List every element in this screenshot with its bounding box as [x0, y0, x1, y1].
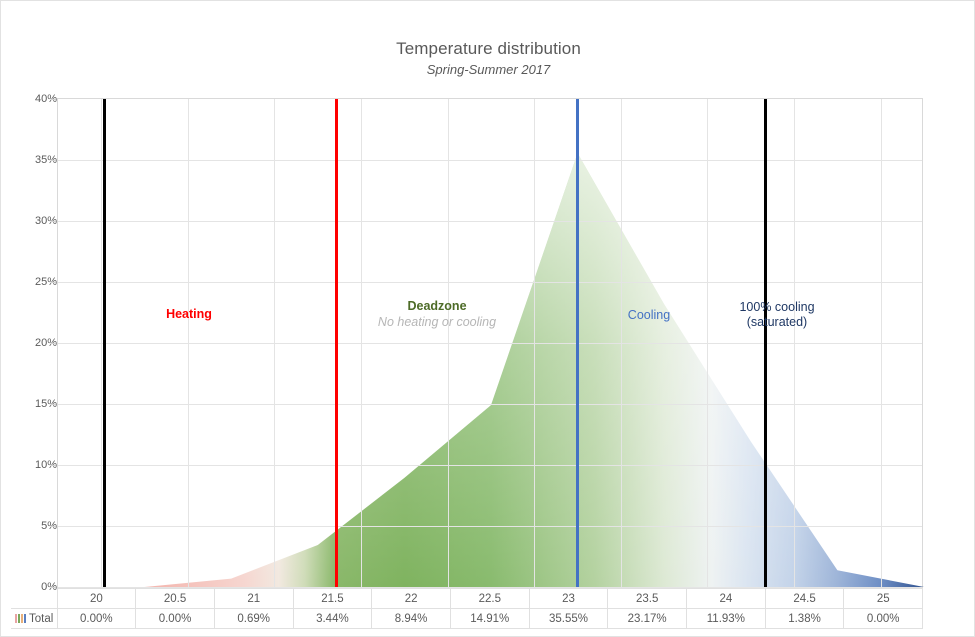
gridline-v-9	[794, 99, 795, 587]
table-header-cell: 23.5	[608, 589, 687, 609]
table-header-cell: 20	[57, 589, 136, 609]
table-legend-cell: Total	[11, 609, 57, 629]
gridline-v-4	[361, 99, 362, 587]
y-tick-mark	[51, 282, 56, 283]
y-tick-label: 25%	[9, 276, 57, 288]
data-table: 20 20.5 21 21.5 22 22.5 23 23.5 24 24.5 …	[11, 588, 923, 629]
annotation-deadzone-sublabel: No heating or cooling	[378, 315, 496, 329]
table-row-header: 20 20.5 21 21.5 22 22.5 23 23.5 24 24.5 …	[11, 589, 923, 609]
table-data-cell: 0.00%	[136, 609, 215, 629]
y-tick-label: 30%	[9, 215, 57, 227]
table-header-cell: 24	[687, 589, 766, 609]
table-data-cell: 0.00%	[844, 609, 923, 629]
y-tick-mark	[51, 343, 56, 344]
gridline-v-5	[448, 99, 449, 587]
y-tick-label: 15%	[9, 398, 57, 410]
table-header-cell: 22.5	[450, 589, 529, 609]
y-axis: 40%35%30%25%20%15%10%5%0%	[1, 98, 57, 588]
y-tick-mark	[51, 526, 56, 527]
table-corner-cell	[11, 589, 57, 609]
gridline-v-8	[707, 99, 708, 587]
y-tick-label: 35%	[9, 154, 57, 166]
marker-line-saturation-limit	[764, 99, 767, 587]
table-data-cell: 35.55%	[529, 609, 608, 629]
chart-container: Temperature distribution Spring-Summer 2…	[0, 0, 975, 637]
annotation-heating-label: Heating	[166, 307, 212, 321]
table-data-cell: 1.38%	[765, 609, 844, 629]
y-tick-mark	[51, 404, 56, 405]
annotation-saturated: 100% cooling (saturated)	[739, 300, 814, 329]
y-tick-mark	[51, 99, 56, 100]
table-data-cell: 8.94%	[372, 609, 451, 629]
gridline-v-3	[274, 99, 275, 587]
table-data-cell: 0.69%	[214, 609, 293, 629]
marker-line-lower-limit	[103, 99, 106, 587]
table-data-cell: 11.93%	[687, 609, 766, 629]
y-tick-mark	[51, 221, 56, 222]
table-data-cell: 23.17%	[608, 609, 687, 629]
gridline-v-6	[534, 99, 535, 587]
annotation-saturated-label: 100% cooling	[739, 300, 814, 314]
table-data-cell: 14.91%	[450, 609, 529, 629]
annotation-deadzone-label: Deadzone	[407, 299, 466, 313]
gridline-v-10	[881, 99, 882, 587]
y-tick-mark	[51, 465, 56, 466]
table-header-cell: 22	[372, 589, 451, 609]
marker-line-cooling-setpoint	[576, 99, 579, 587]
table-header-cell: 24.5	[765, 589, 844, 609]
y-tick-label: 10%	[9, 459, 57, 471]
table-row: Total 0.00% 0.00% 0.69% 3.44% 8.94% 14.9…	[11, 609, 923, 629]
gridline-v-2	[188, 99, 189, 587]
chart-title: Temperature distribution	[1, 39, 975, 59]
y-tick-label: 40%	[9, 93, 57, 105]
table-data-cell: 0.00%	[57, 609, 136, 629]
marker-line-heating-setpoint	[335, 99, 338, 587]
table-legend-label: Total	[29, 613, 53, 625]
table-header-cell: 20.5	[136, 589, 215, 609]
gridline-v-1	[101, 99, 102, 587]
annotation-cooling: Cooling	[628, 308, 670, 322]
y-tick-mark	[51, 160, 56, 161]
table-header-cell: 21	[214, 589, 293, 609]
annotation-deadzone: Deadzone No heating or cooling	[378, 299, 496, 329]
table-header-cell: 25	[844, 589, 923, 609]
gridline-v-7	[621, 99, 622, 587]
series-color-swatch-icon	[15, 614, 26, 623]
table-header-cell: 23	[529, 589, 608, 609]
table-header-cell: 21.5	[293, 589, 372, 609]
plot-area: Heating Deadzone No heating or cooling C…	[57, 98, 923, 588]
y-tick-label: 20%	[9, 337, 57, 349]
chart-subtitle: Spring-Summer 2017	[1, 62, 975, 77]
annotation-saturated-label-line2: (saturated)	[739, 315, 814, 329]
table-data-cell: 3.44%	[293, 609, 372, 629]
annotation-cooling-label: Cooling	[628, 308, 670, 322]
annotation-heating: Heating	[166, 307, 212, 321]
y-tick-label: 5%	[9, 520, 57, 532]
